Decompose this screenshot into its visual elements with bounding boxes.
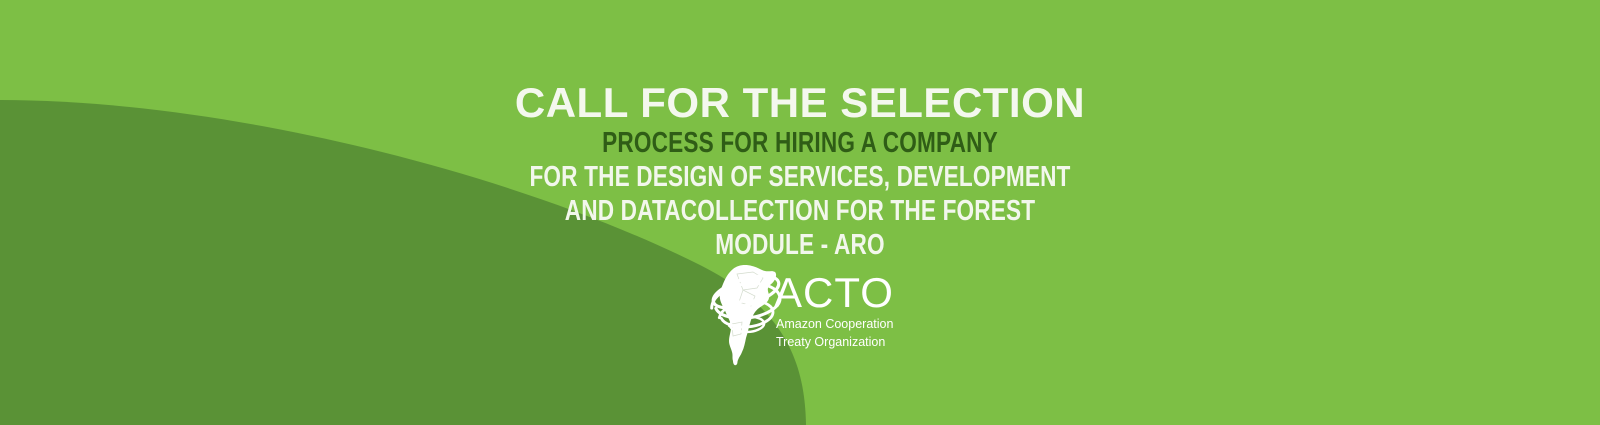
headline-block: CALL FOR THE SELECTION PROCESS FOR HIRIN… [0, 80, 1600, 262]
logo-tagline-line-1: Amazon Cooperation [776, 317, 924, 332]
logo-tagline-line-2: Treaty Organization [776, 335, 924, 350]
acto-logo: ACTO Amazon Cooperation Treaty Organizat… [697, 258, 917, 368]
logo-text-block: ACTO Amazon Cooperation Treaty Organizat… [774, 272, 924, 349]
subtitle-line-1: PROCESS FOR HIRING A COMPANY [176, 126, 1424, 160]
logo-wordmark: ACTO [774, 272, 924, 314]
subtitle-line-2: FOR THE DESIGN OF SERVICES, DEVELOPMENT [176, 160, 1424, 194]
page-title: CALL FOR THE SELECTION [0, 80, 1600, 126]
acto-call-for-selection-banner: CALL FOR THE SELECTION PROCESS FOR HIRIN… [0, 0, 1600, 425]
subtitle-line-3: AND DATACOLLECTION FOR THE FOREST [176, 194, 1424, 228]
subtitle-line-4: MODULE - ARO [176, 228, 1424, 262]
